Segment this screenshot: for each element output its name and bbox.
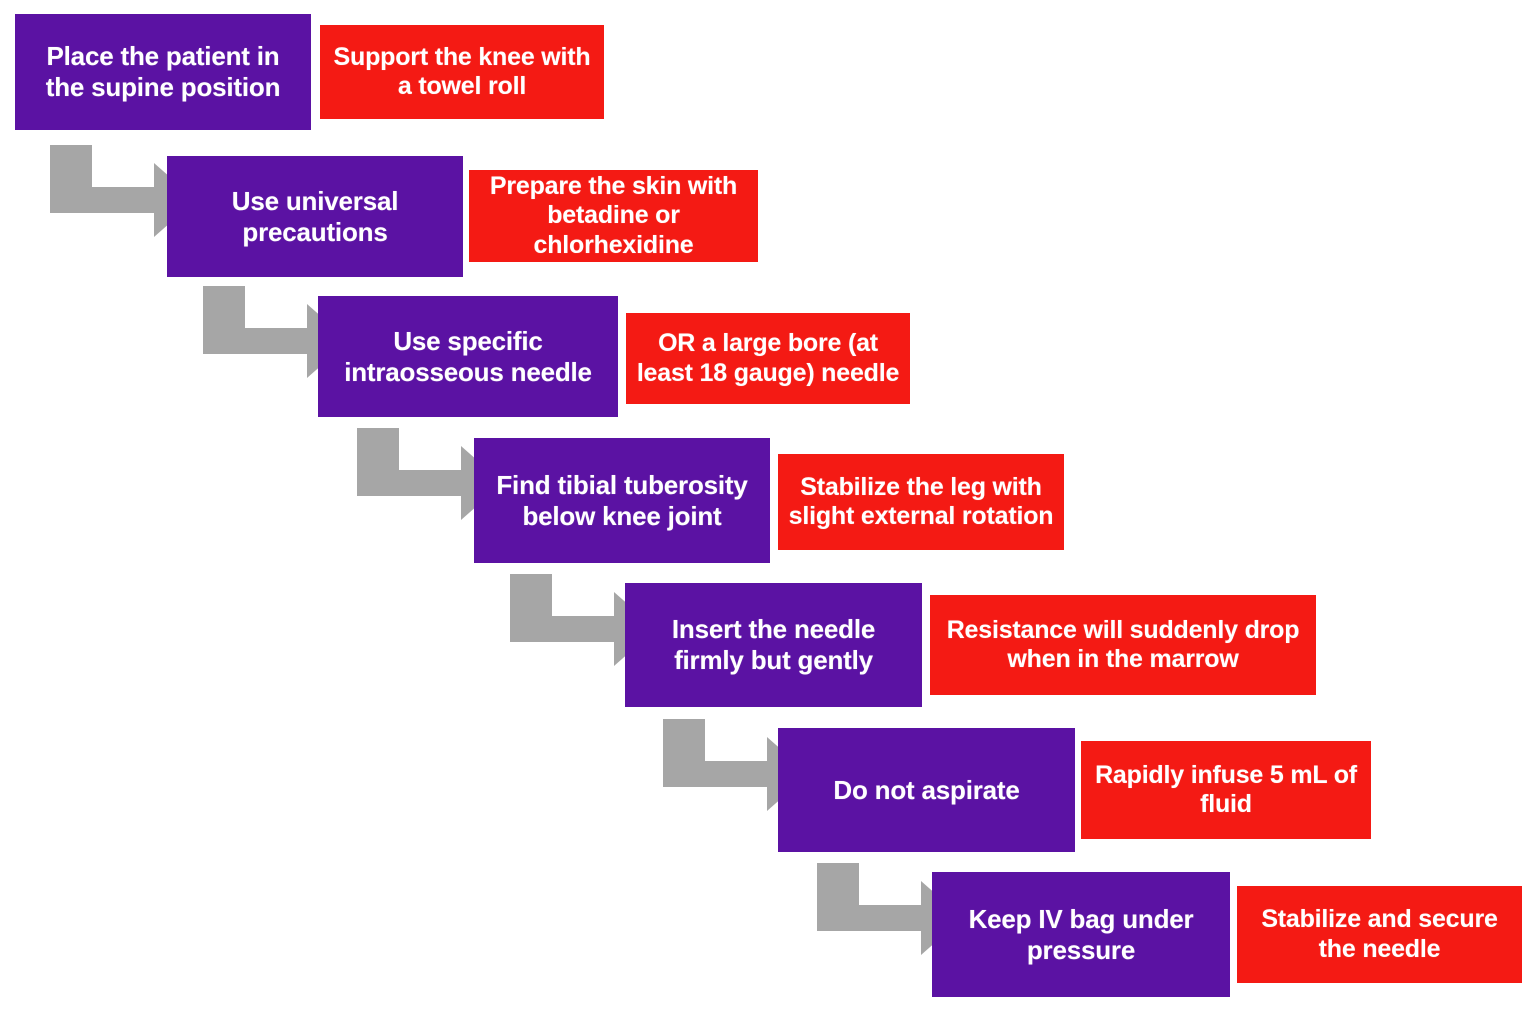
note-box-4: Stabilize the leg with slight external r… bbox=[778, 454, 1064, 550]
flowchart-canvas: Place the patient in the supine position… bbox=[0, 0, 1536, 1013]
step-box-2: Use universal precautions bbox=[167, 156, 463, 277]
step-box-4: Find tibial tuberosity below knee joint bbox=[474, 438, 770, 563]
note-box-6: Rapidly infuse 5 mL of fluid bbox=[1081, 741, 1371, 839]
step-box-5: Insert the needle firmly but gently bbox=[625, 583, 922, 707]
step-box-1: Place the patient in the supine position bbox=[15, 14, 311, 130]
note-box-7: Stabilize and secure the needle bbox=[1237, 886, 1522, 983]
step-box-3: Use specific intraosseous needle bbox=[318, 296, 618, 417]
note-box-1: Support the knee with a towel roll bbox=[320, 25, 604, 119]
note-box-3: OR a large bore (at least 18 gauge) need… bbox=[626, 313, 910, 404]
note-box-2: Prepare the skin with betadine or chlorh… bbox=[469, 170, 758, 262]
step-box-6: Do not aspirate bbox=[778, 728, 1075, 852]
note-box-5: Resistance will suddenly drop when in th… bbox=[930, 595, 1316, 695]
step-box-7: Keep IV bag under pressure bbox=[932, 872, 1230, 997]
